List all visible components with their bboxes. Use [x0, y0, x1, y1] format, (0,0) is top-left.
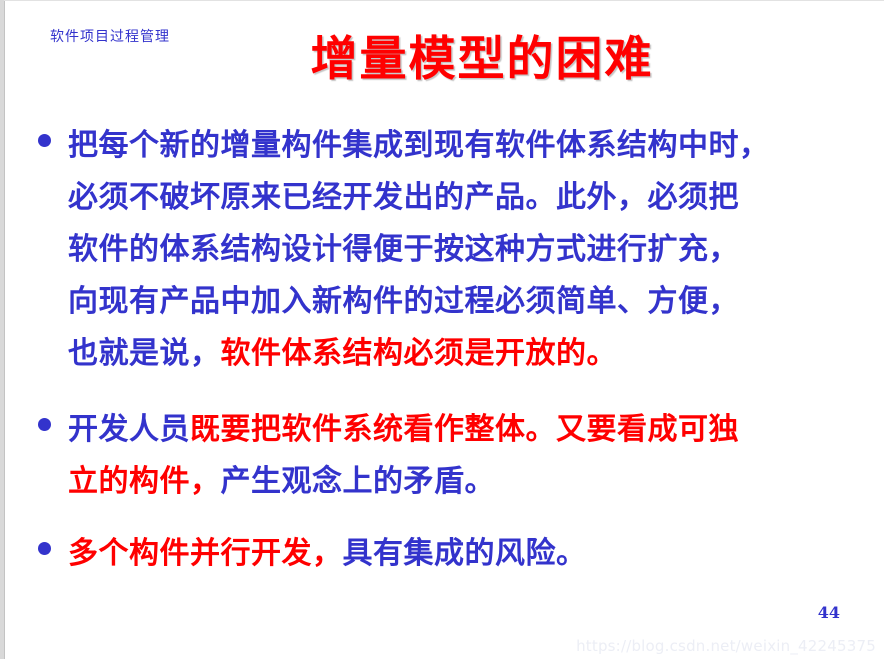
bullet-text-run: 把每个新的增量构件集成到现有软件体系结构中时，	[68, 128, 770, 163]
bullet-text-line: 多个构件并行开发，具有集成的风险。	[68, 528, 860, 580]
bullet-dot-icon	[38, 134, 51, 147]
bullet-list: 把每个新的增量构件集成到现有软件体系结构中时， 必须不破坏原来已经开发出的产品。…	[30, 120, 860, 594]
bullet-emphasis-run: 立的构件，	[68, 464, 221, 499]
left-edge-rule	[4, 0, 5, 659]
bullet-emphasis-run: 多个构件并行开发，	[68, 536, 343, 571]
bullet-text-line: 把每个新的增量构件集成到现有软件体系结构中时，	[68, 120, 860, 172]
top-edge-rule	[4, 0, 884, 1]
bullet-text-run: 具有集成的风险。	[343, 536, 587, 571]
list-item: 开发人员既要把软件系统看作整体。又要看成可独 立的构件，产生观念上的矛盾。	[30, 404, 860, 508]
bullet-text-line: 软件的体系结构设计得便于按这种方式进行扩充，	[68, 224, 860, 276]
page-number: 44	[818, 603, 840, 622]
list-item: 多个构件并行开发，具有集成的风险。	[30, 528, 860, 580]
bullet-text-run: 向现有产品中加入新构件的过程必须简单、方便，	[68, 284, 739, 319]
bullet-text-run: 必须不破坏原来已经开发出的产品。此外，必须把	[68, 180, 739, 215]
watermark-url: https://blog.csdn.net/weixin_42245375	[576, 637, 876, 655]
bullet-text-run: 也就是说，	[68, 336, 221, 371]
bullet-text-line: 向现有产品中加入新构件的过程必须简单、方便，	[68, 276, 860, 328]
bullet-text-line: 开发人员既要把软件系统看作整体。又要看成可独	[68, 404, 860, 456]
bullet-text-run: 开发人员	[68, 412, 190, 447]
bullet-text-run: 产生观念上的矛盾。	[221, 464, 496, 499]
bullet-emphasis-run: 既要把软件系统看作整体。又要看成可独	[190, 412, 739, 447]
page-title: 增量模型的困难	[0, 34, 884, 86]
slide-canvas: 软件项目过程管理 增量模型的困难 把每个新的增量构件集成到现有软件体系结构中时，…	[0, 0, 884, 659]
bullet-dot-icon	[38, 542, 51, 555]
list-item: 把每个新的增量构件集成到现有软件体系结构中时， 必须不破坏原来已经开发出的产品。…	[30, 120, 860, 380]
bullet-dot-icon	[38, 418, 51, 431]
bullet-text-line: 也就是说，软件体系结构必须是开放的。	[68, 328, 860, 380]
bullet-text-line: 必须不破坏原来已经开发出的产品。此外，必须把	[68, 172, 860, 224]
bullet-text-run: 软件的体系结构设计得便于按这种方式进行扩充，	[68, 232, 739, 267]
bullet-emphasis-run: 软件体系结构必须是开放的。	[221, 336, 618, 371]
bullet-text-line: 立的构件，产生观念上的矛盾。	[68, 456, 860, 508]
